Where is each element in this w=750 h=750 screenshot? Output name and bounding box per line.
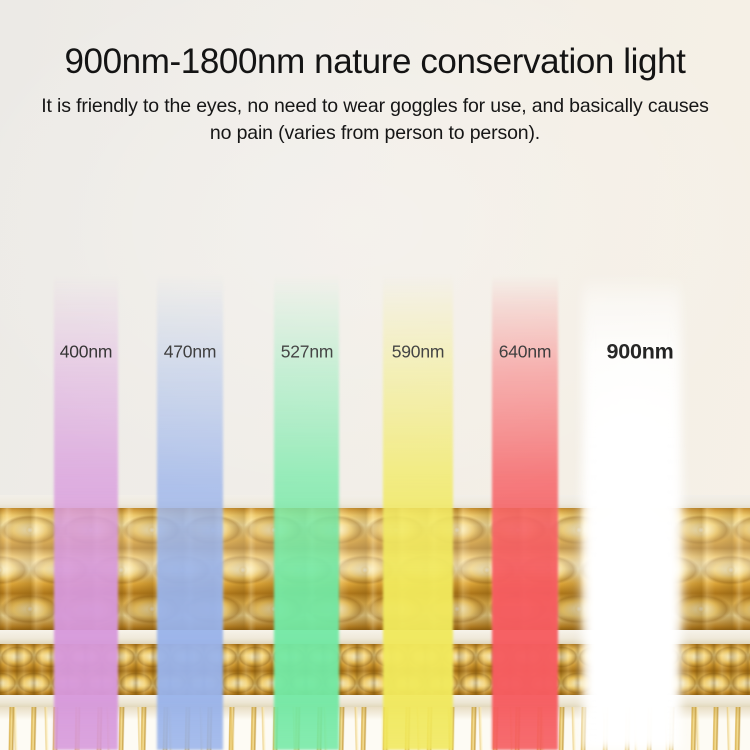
beam-527nm [274,275,339,750]
beam-470nm [157,275,223,750]
subtitle-line-1: It is friendly to the eyes, no need to w… [41,95,709,117]
page-title: 900nm-1800nm nature conservation light [0,44,750,81]
subtitle-line-2: no pain (varies from person to person). [0,120,750,147]
promo-image-root: 400nm 470nm 527nm 590nm 640nm 900nm 900n… [0,0,750,750]
beam-400nm [54,275,118,750]
header-block: 900nm-1800nm nature conservation light I… [0,0,750,147]
beam-640nm [492,275,558,750]
beam-900nm [583,275,681,750]
page-subtitle: It is friendly to the eyes, no need to w… [0,93,750,147]
beam-590nm [383,275,453,750]
